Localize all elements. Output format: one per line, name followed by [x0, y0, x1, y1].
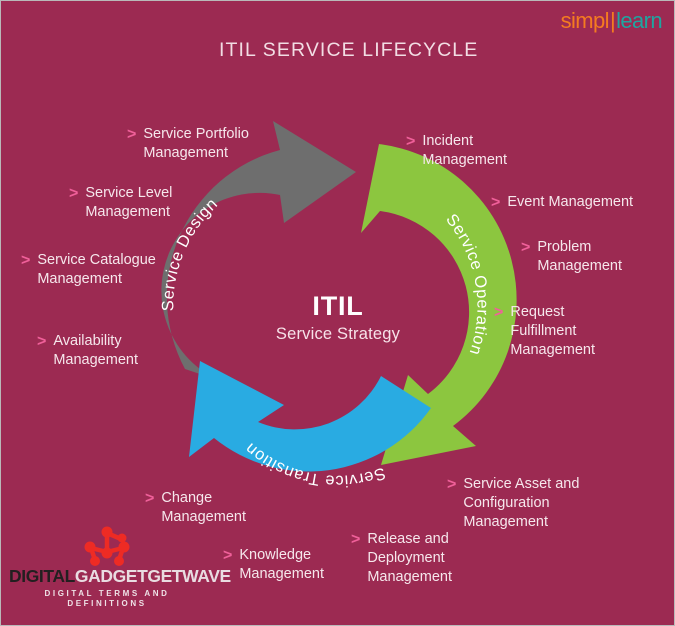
logo-divider: |	[609, 8, 616, 33]
process-label: Incident Management	[422, 132, 507, 170]
logo-text-learn: learn	[616, 8, 662, 33]
page-title: ITIL SERVICE LIFECYCLE	[219, 39, 478, 62]
watermark-name-bold: DIGITAL	[9, 566, 75, 586]
molecule-icon	[9, 525, 205, 567]
chevron-right-icon: >	[127, 125, 136, 145]
process-label: Availability Management	[53, 332, 138, 370]
process-label: Release and Deployment Management	[367, 530, 452, 587]
watermark-tagline: DIGITAL TERMS AND DEFINITIONS	[9, 589, 205, 611]
logo-text-simpl: simpl	[561, 8, 609, 33]
process-label: Service Catalogue Management	[37, 251, 156, 289]
process-incident-management[interactable]: > Incident Management	[406, 132, 546, 170]
process-service-catalogue-management[interactable]: > Service Catalogue Management	[21, 251, 186, 289]
process-release-and-deployment-management[interactable]: > Release and Deployment Management	[351, 530, 491, 587]
process-label: Event Management	[507, 193, 633, 212]
process-availability-management[interactable]: > Availability Management	[37, 332, 187, 370]
process-label: Change Management	[161, 489, 246, 527]
watermark-logo: DIGITALGADGETGETWAVE DIGITAL TERMS AND D…	[9, 525, 205, 610]
process-label: Service Asset and Configuration Manageme…	[463, 475, 579, 532]
process-service-asset-and-configuration-management[interactable]: > Service Asset and Configuration Manage…	[447, 475, 612, 532]
chevron-right-icon: >	[406, 132, 415, 152]
process-label: Knowledge Management	[239, 546, 324, 584]
process-service-portfolio-management[interactable]: > Service Portfolio Management	[127, 125, 292, 163]
watermark-name: DIGITALGADGETGETWAVE	[9, 568, 205, 586]
process-change-management[interactable]: > Change Management	[145, 489, 285, 527]
process-problem-management[interactable]: > Problem Management	[521, 238, 661, 276]
process-label: Request Fulfillment Management	[510, 303, 595, 360]
simplilearn-logo: simpl|learn	[561, 10, 662, 32]
chevron-right-icon: >	[21, 251, 30, 271]
lifecycle-cycle-diagram: Service Design Service Operation Service…	[151, 116, 541, 491]
chevron-right-icon: >	[491, 193, 500, 213]
process-event-management[interactable]: > Event Management	[491, 193, 661, 213]
chevron-right-icon: >	[351, 530, 360, 550]
chevron-right-icon: >	[69, 184, 78, 204]
watermark-name-light: GADGETGETWAVE	[75, 566, 231, 586]
chevron-right-icon: >	[521, 238, 530, 258]
process-service-level-management[interactable]: > Service Level Management	[69, 184, 219, 222]
itil-service-lifecycle-infographic: ITIL SERVICE LIFECYCLE simpl|learn Servi…	[0, 0, 675, 626]
chevron-right-icon: >	[37, 332, 46, 352]
stage-arc-service-transition[interactable]: Service Transition	[189, 361, 431, 490]
chevron-right-icon: >	[447, 475, 456, 495]
process-label: Problem Management	[537, 238, 622, 276]
process-knowledge-management[interactable]: > Knowledge Management	[223, 546, 363, 584]
process-label: Service Level Management	[85, 184, 172, 222]
chevron-right-icon: >	[223, 546, 232, 566]
process-label: Service Portfolio Management	[143, 125, 249, 163]
process-request-fulfillment-management[interactable]: > Request Fulfillment Management	[494, 303, 644, 360]
chevron-right-icon: >	[145, 489, 154, 509]
chevron-right-icon: >	[494, 303, 503, 323]
